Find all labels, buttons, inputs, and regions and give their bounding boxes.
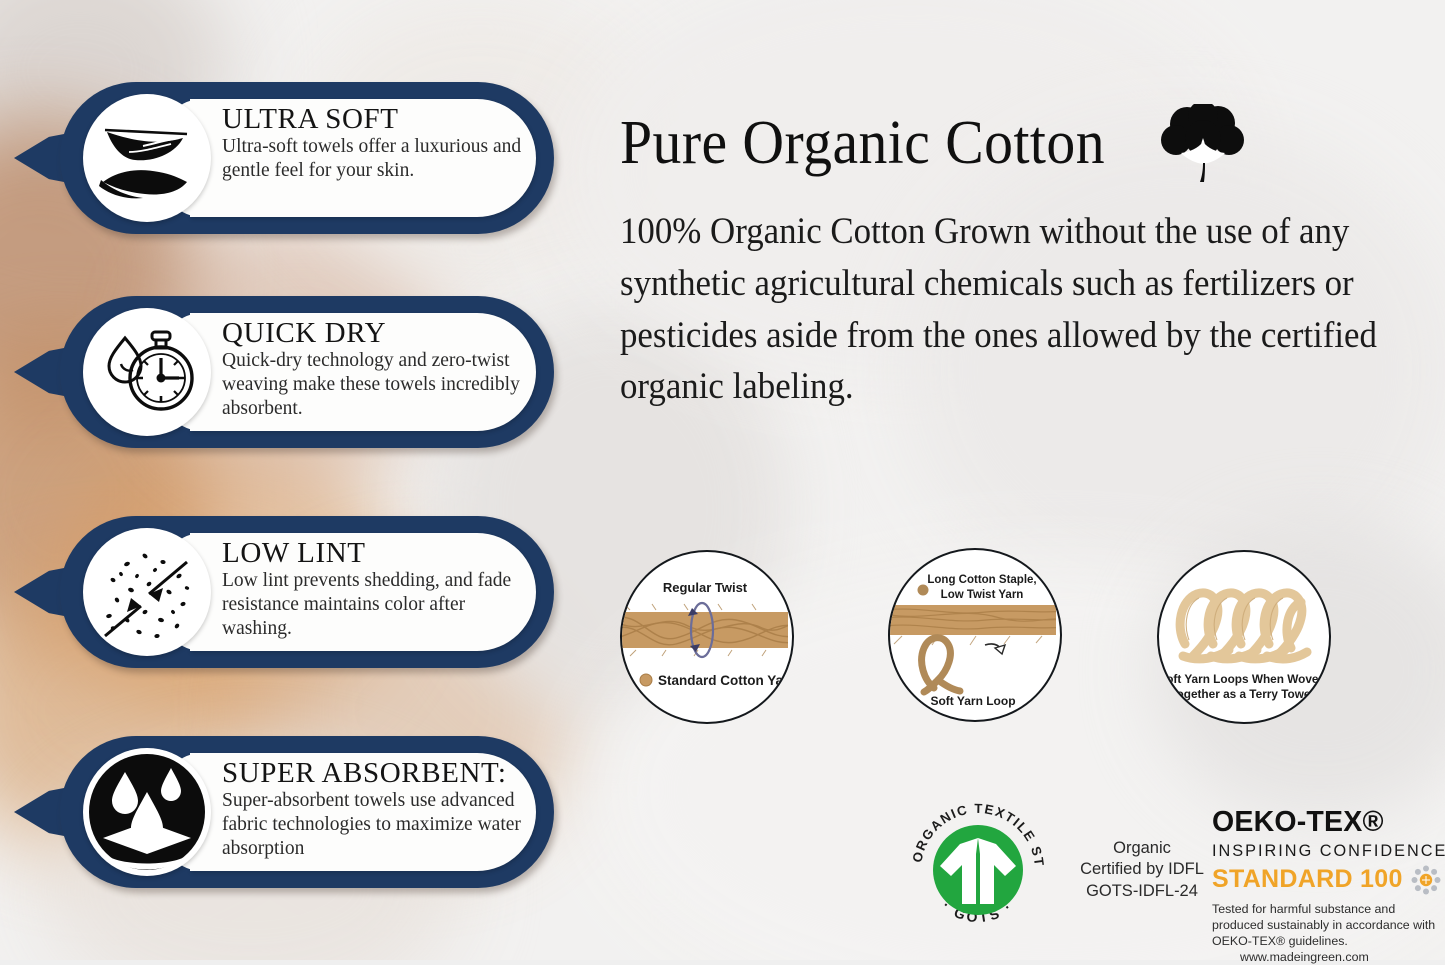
svg-text:Soft Yarn Loops When Woven: Soft Yarn Loops When Woven — [1159, 672, 1325, 686]
gots-logo: GLOBAL ORGANIC TEXTILE STANDARD · GOTS · — [900, 792, 1056, 948]
hand-feather-icon — [83, 94, 211, 222]
feature-card-quick-dry[interactable]: QUICK DRY Quick-dry technology and zero-… — [14, 296, 554, 448]
svg-text:Regular Twist: Regular Twist — [663, 580, 748, 595]
feature-title: ULTRA SOFT — [222, 104, 522, 134]
feature-text: QUICK DRY Quick-dry technology and zero-… — [222, 318, 522, 421]
low-twist-yarn-diagram: Long Cotton Staple, Low Twist Yarn — [888, 548, 1062, 722]
svg-text:Standard Cotton Yarn: Standard Cotton Yarn — [658, 673, 788, 688]
oeko-tex-standard-row: STANDARD 100 — [1212, 865, 1445, 895]
feature-title: LOW LINT — [222, 538, 522, 568]
oeko-tex-flower-icon — [1411, 865, 1441, 895]
feature-card-low-lint[interactable]: LOW LINT Low lint prevents shedding, and… — [14, 516, 554, 668]
stopwatch-droplet-icon — [83, 308, 211, 436]
oeko-tex-standard: STANDARD 100 — [1212, 867, 1403, 892]
terry-loops-diagram: Soft Yarn Loops When Woven Together as a… — [1157, 550, 1331, 724]
feature-description: Ultra-soft towels offer a luxurious and … — [222, 135, 522, 183]
svg-text:Low Twist Yarn: Low Twist Yarn — [941, 589, 1024, 601]
feature-description: Low lint prevents shedding, and fade res… — [222, 569, 522, 640]
feature-text: ULTRA SOFT Ultra-soft towels offer a lux… — [222, 104, 522, 183]
gots-caption: Organic Certified by IDFL GOTS-IDFL-24 — [1072, 838, 1212, 902]
feature-text: SUPER ABSORBENT: Super-absorbent towels … — [222, 758, 522, 861]
svg-text:Soft Yarn Loop: Soft Yarn Loop — [930, 694, 1015, 708]
feature-card-super-absorbent[interactable]: SUPER ABSORBENT: Super-absorbent towels … — [14, 736, 554, 888]
oeko-tex-url: www.madeingreen.com — [1240, 950, 1369, 964]
feature-description: Super-absorbent towels use advanced fabr… — [222, 789, 522, 860]
feature-text: LOW LINT Low lint prevents shedding, and… — [222, 538, 522, 641]
right-content-panel: Pure Organic Cotton 100% Organic Cotton … — [612, 0, 1445, 960]
gots-caption-line1: Organic — [1072, 838, 1212, 859]
feature-description: Quick-dry technology and zero-twist weav… — [222, 349, 522, 420]
svg-text:Long Cotton Staple,: Long Cotton Staple, — [927, 574, 1036, 586]
oeko-tex-logo: OEKO-TEX® INSPIRING CONFIDENCE STANDARD … — [1212, 808, 1445, 965]
oeko-tex-fine-print: Tested for harmful substance and produce… — [1212, 901, 1445, 965]
feature-card-ultra-soft[interactable]: ULTRA SOFT Ultra-soft towels offer a lux… — [14, 82, 554, 234]
headline-body-text: 100% Organic Cotton Grown without the us… — [620, 205, 1384, 412]
cotton-boll-icon — [1160, 104, 1246, 182]
certifications-row: GLOBAL ORGANIC TEXTILE STANDARD · GOTS ·… — [612, 786, 1445, 960]
feature-title: SUPER ABSORBENT: — [222, 758, 522, 788]
yarn-diagrams: Regular Twist — [612, 548, 1445, 728]
gots-caption-line2: Certified by IDFL — [1072, 859, 1212, 880]
regular-twist-diagram: Regular Twist — [620, 550, 794, 724]
features-list: ULTRA SOFT Ultra-soft towels offer a lux… — [0, 0, 565, 960]
water-absorption-icon — [83, 748, 211, 876]
svg-text:Together as a Terry Towel: Together as a Terry Towel — [1170, 687, 1314, 701]
lint-particles-icon — [83, 528, 211, 656]
gots-caption-line3: GOTS-IDFL-24 — [1072, 881, 1212, 902]
oeko-tex-tagline: INSPIRING CONFIDENCE — [1212, 842, 1445, 861]
headline-row: Pure Organic Cotton — [620, 104, 1246, 182]
page-title: Pure Organic Cotton — [620, 112, 1105, 174]
oeko-tex-fine-print-text: Tested for harmful substance and produce… — [1212, 902, 1435, 948]
oeko-tex-title: OEKO-TEX® — [1212, 808, 1445, 837]
feature-title: QUICK DRY — [222, 318, 522, 348]
